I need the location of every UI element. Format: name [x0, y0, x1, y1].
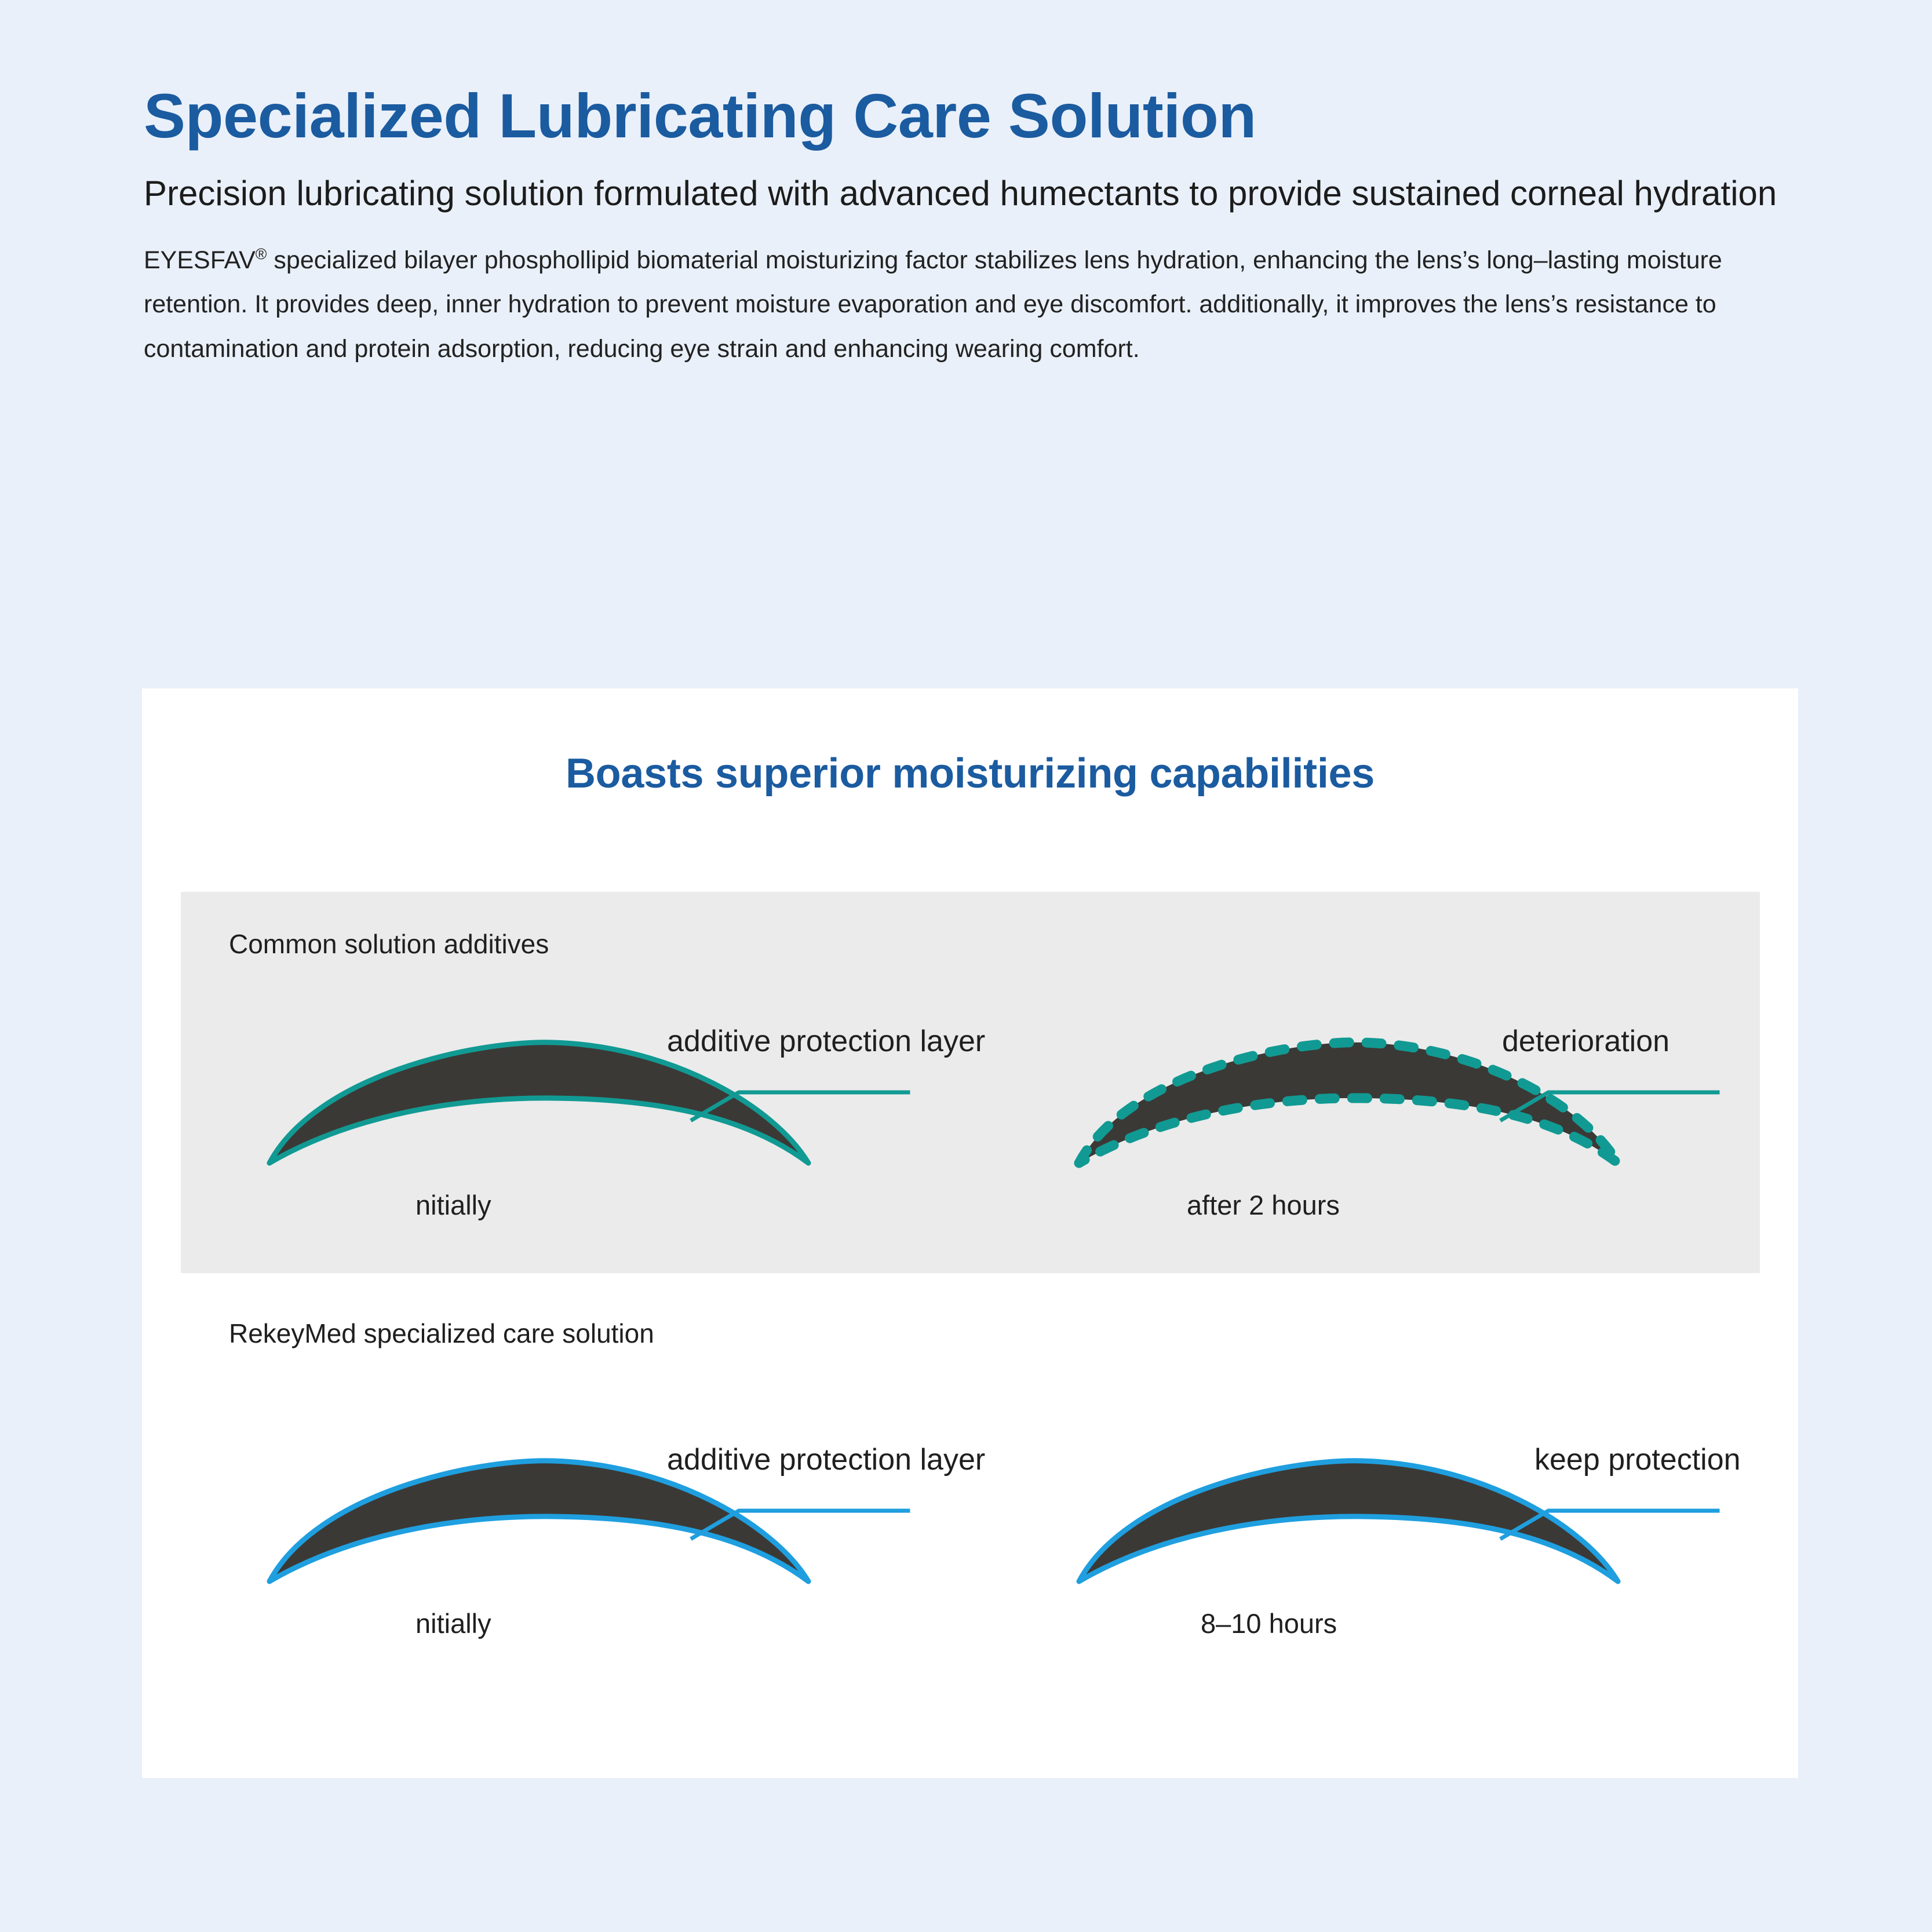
body-text: specialized bilayer phosphollipid biomat…	[144, 246, 1722, 363]
lens-shape	[1079, 1042, 1618, 1163]
card-heading: Boasts superior moisturizing capabilitie…	[142, 750, 1798, 797]
body-paragraph: EYESFAV® specialized bilayer phosphollip…	[144, 238, 1789, 371]
callout-label: additive protection layer	[667, 1024, 985, 1059]
registered-trademark-icon: ®	[256, 246, 267, 263]
lens-diagram-solid-blue	[229, 1408, 913, 1610]
callout-label: deterioration	[1502, 1024, 1669, 1059]
figure-caption: 8–10 hours	[1201, 1607, 1337, 1639]
figure-caption: after 2 hours	[1187, 1189, 1340, 1221]
figure-caption: nitially	[415, 1607, 491, 1639]
comparison-card: Boasts superior moisturizing capabilitie…	[142, 688, 1798, 1778]
lens-shape	[269, 1461, 808, 1581]
figure-caption: nitially	[415, 1189, 491, 1221]
header-block: Specialized Lubricating Care Solution Pr…	[144, 81, 1813, 371]
figure-common-initially: additive protection layer nitially	[229, 989, 913, 1262]
page-subtitle: Precision lubricating solution formulate…	[144, 171, 1807, 216]
callout-label: additive protection layer	[667, 1442, 985, 1477]
lens-shape	[269, 1042, 808, 1163]
panel-label: RekeyMed specialized care solution	[229, 1318, 654, 1349]
lens-shape	[1079, 1461, 1618, 1581]
figure-rekeymed-initially: additive protection layer nitially	[229, 1408, 913, 1680]
figure-common-after-2-hours: deterioration after 2 hours	[1038, 989, 1722, 1262]
lens-diagram-solid-blue	[1038, 1408, 1722, 1610]
panel-rekeymed-care-solution: RekeyMed specialized care solution addit…	[181, 1273, 1760, 1754]
brand-name: EYESFAV	[144, 246, 256, 274]
lens-diagram-solid-teal	[229, 989, 913, 1192]
panel-label: Common solution additives	[229, 928, 549, 960]
figure-rekeymed-8-10-hours: keep protection 8–10 hours	[1038, 1408, 1722, 1680]
panel-common-solution-additives: Common solution additives additive prote…	[181, 892, 1760, 1273]
page-title: Specialized Lubricating Care Solution	[144, 81, 1813, 151]
callout-label: keep protection	[1534, 1442, 1741, 1477]
lens-diagram-dashed-teal	[1038, 989, 1722, 1192]
